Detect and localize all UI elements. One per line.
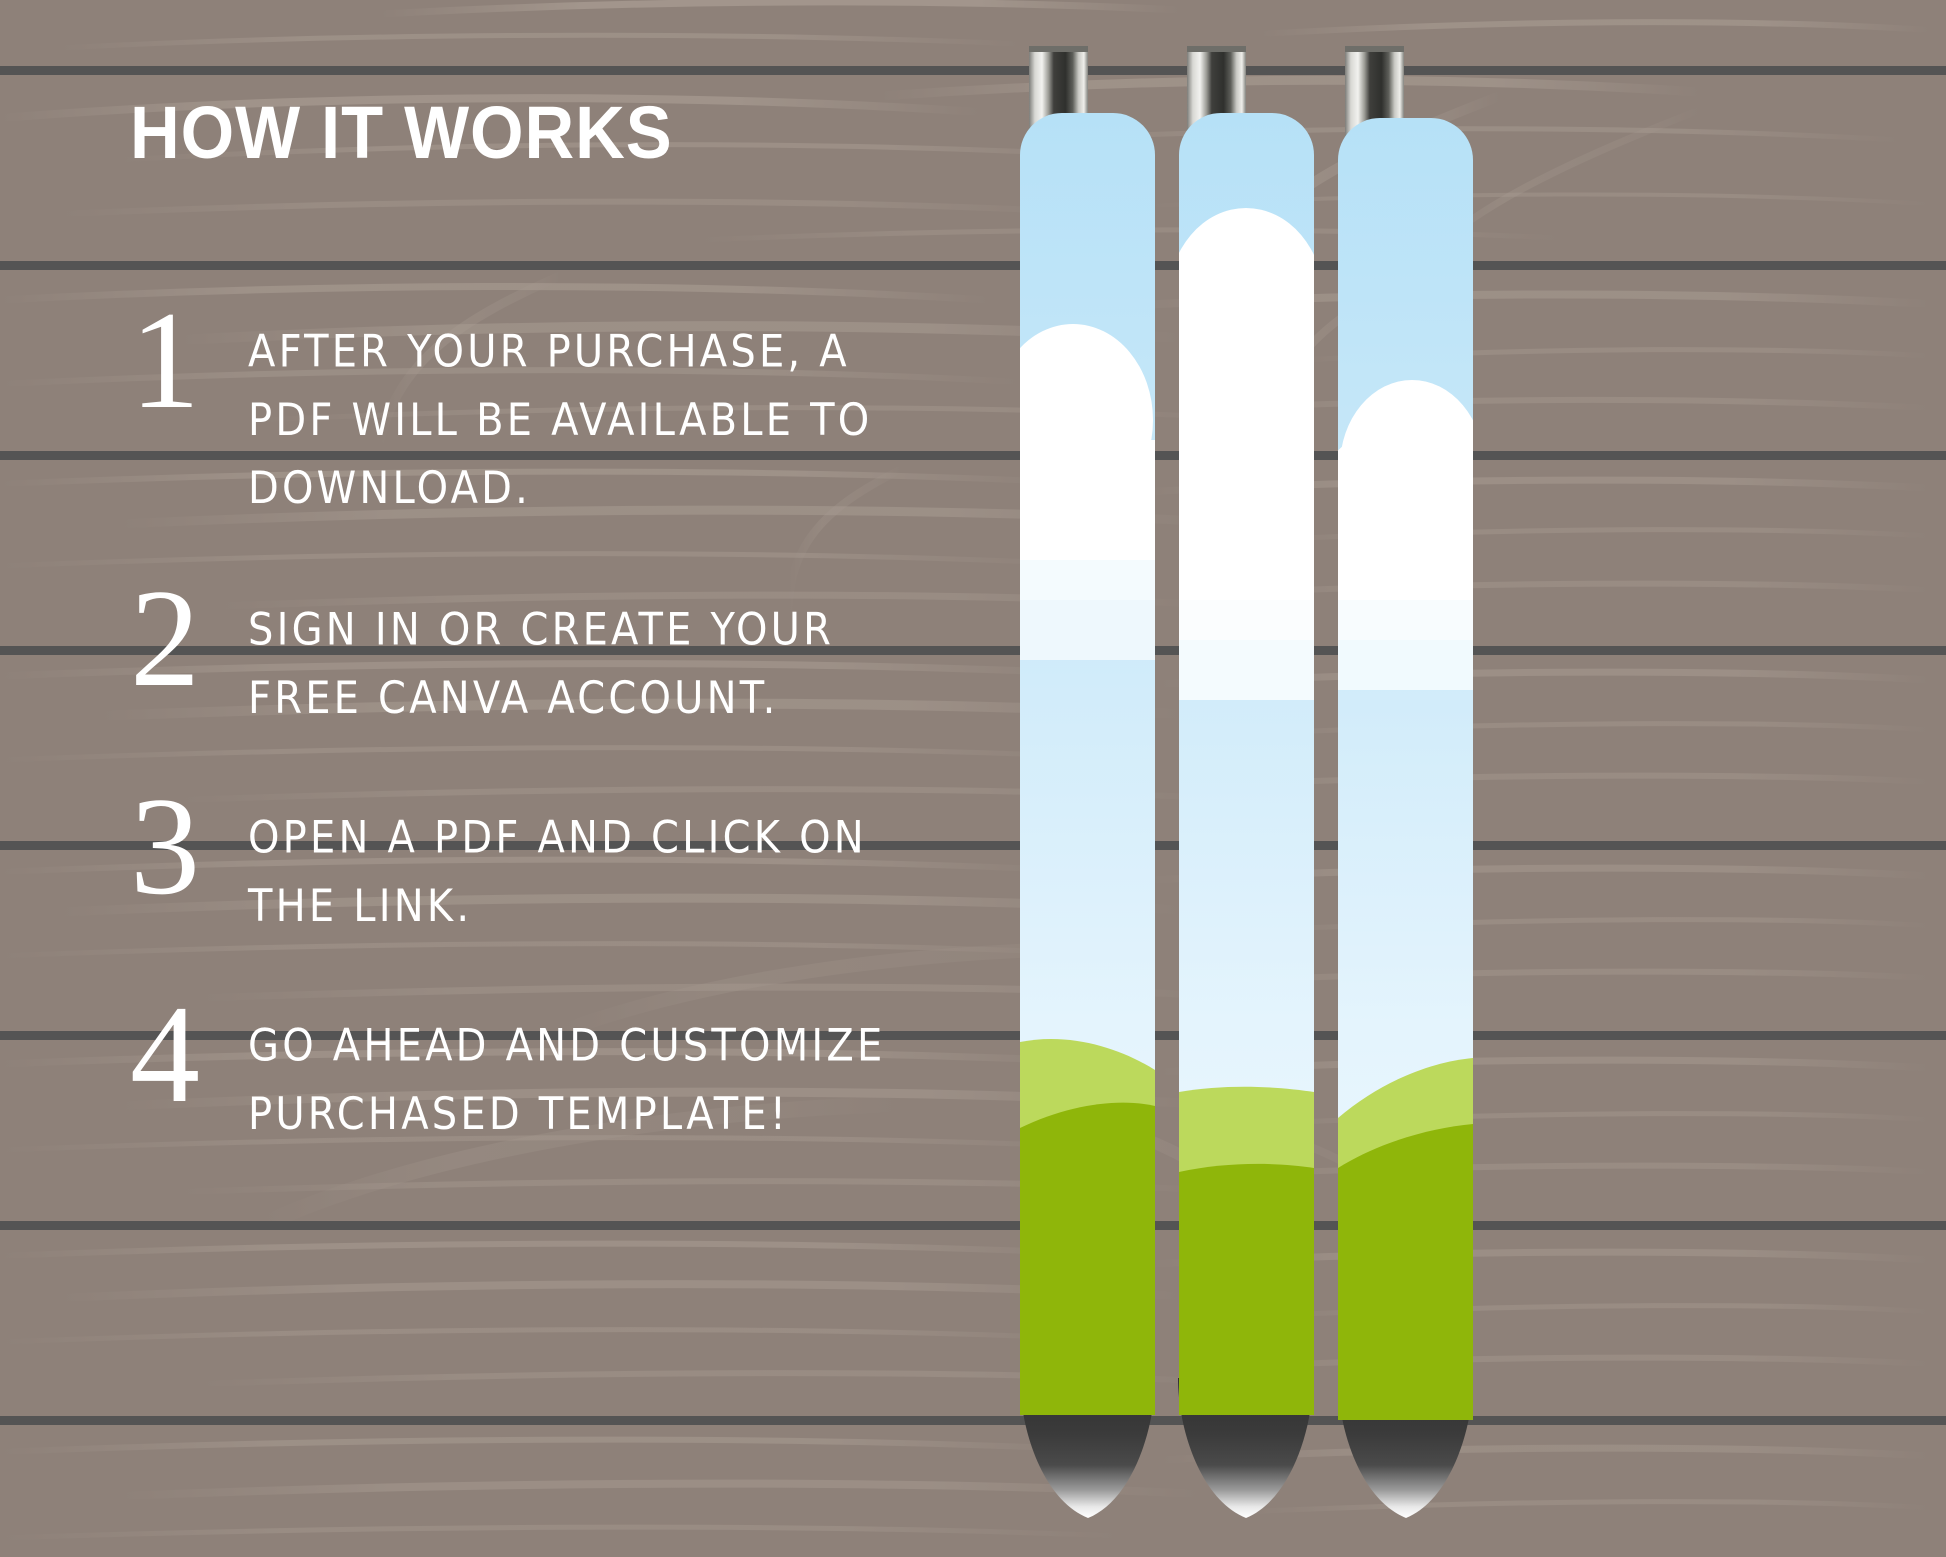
step-number-2: 2 <box>118 574 248 704</box>
step-item-1: 1 AFTER YOUR PURCHASE, A PDF WILL BE AVA… <box>118 296 938 498</box>
step-text-4: GO AHEAD AND CUSTOMIZE PURCHASED TEMPLAT… <box>248 990 938 1149</box>
step-item-3: 3 OPEN A PDF AND CLICK ON THE LINK. <box>118 782 938 924</box>
how-it-works-graphic: HOW IT WORKS 1 AFTER YOUR PURCHASE, A PD… <box>0 0 1946 1557</box>
step-number-3: 3 <box>118 782 248 912</box>
step-item-4: 4 GO AHEAD AND CUSTOMIZE PURCHASED TEMPL… <box>118 990 938 1132</box>
instructions-panel: HOW IT WORKS 1 AFTER YOUR PURCHASE, A PD… <box>0 0 980 1557</box>
step-text-2: SIGN IN OR CREATE YOUR FREE CANVA ACCOUN… <box>248 574 938 733</box>
step-item-2: 2 SIGN IN OR CREATE YOUR FREE CANVA ACCO… <box>118 574 938 716</box>
step-text-1: AFTER YOUR PURCHASE, A PDF WILL BE AVAIL… <box>248 296 938 523</box>
step-number-4: 4 <box>118 990 248 1120</box>
step-number-1: 1 <box>118 296 248 426</box>
page-title: HOW IT WORKS <box>130 96 673 170</box>
step-text-3: OPEN A PDF AND CLICK ON THE LINK. <box>248 782 938 941</box>
